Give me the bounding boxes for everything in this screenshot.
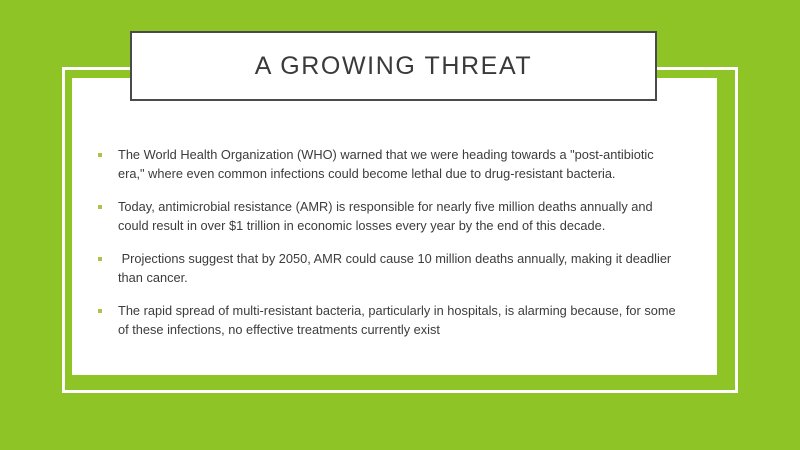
bullet-list: The World Health Organization (WHO) warn… xyxy=(98,145,676,353)
list-item-text: Projections suggest that by 2050, AMR co… xyxy=(118,249,676,287)
square-bullet-icon xyxy=(98,257,102,261)
list-item-text: Today, antimicrobial resistance (AMR) is… xyxy=(118,197,676,235)
list-item: The rapid spread of multi-resistant bact… xyxy=(98,301,676,339)
slide-title-box: A Growing Threat xyxy=(130,31,657,101)
square-bullet-icon xyxy=(98,205,102,209)
list-item-text: The World Health Organization (WHO) warn… xyxy=(118,145,676,183)
square-bullet-icon xyxy=(98,153,102,157)
list-item-text: The rapid spread of multi-resistant bact… xyxy=(118,301,676,339)
presentation-slide: A Growing Threat The World Health Organi… xyxy=(0,0,800,450)
list-item: The World Health Organization (WHO) warn… xyxy=(98,145,676,183)
list-item: Today, antimicrobial resistance (AMR) is… xyxy=(98,197,676,235)
square-bullet-icon xyxy=(98,309,102,313)
list-item: Projections suggest that by 2050, AMR co… xyxy=(98,249,676,287)
page-title: A Growing Threat xyxy=(255,52,532,81)
